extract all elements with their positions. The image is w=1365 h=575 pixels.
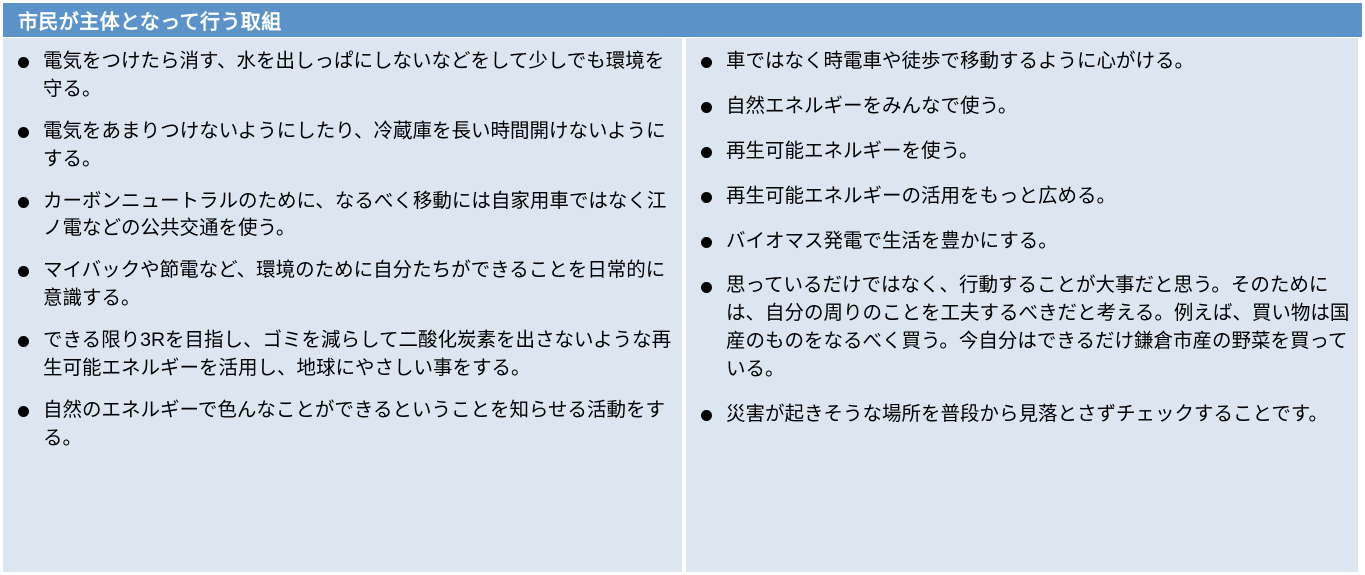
list-item-text: 電気をあまりつけないようにしたり、冷蔵庫を長い時間開けないようにする。 <box>43 118 674 174</box>
list-item: カーボンニュートラルのために、なるべく移動には自家用車ではなく江ノ電などの公共交… <box>13 188 674 244</box>
list-item: 自然のエネルギーで色んなことができるということを知らせる活動をする。 <box>13 397 674 453</box>
bullet-list-right: 車ではなく時電車や徒歩で移動するように心がける。 自然エネルギーをみんなで使う。… <box>696 48 1350 429</box>
list-item: できる限り3Rを目指し、ゴミを減らして二酸化炭素を出さないような再生可能エネルギ… <box>13 327 674 383</box>
bullet-dot-icon <box>18 336 29 347</box>
table-cell-right: 車ではなく時電車や徒歩で移動するように心がける。 自然エネルギーをみんなで使う。… <box>686 38 1358 572</box>
table-body-row: 電気をつけたら消す、水を出しっぱにしないなどをして少しでも環境を守る。 電気をあ… <box>3 38 1362 572</box>
list-item: 車ではなく時電車や徒歩で移動するように心がける。 <box>696 48 1350 76</box>
content-table: 市民が主体となって行う取組 電気をつけたら消す、水を出しっぱにしないなどをして少… <box>0 0 1365 575</box>
list-item-text: 災害が起きそうな場所を普段から見落とさずチェックすることです。 <box>726 401 1350 429</box>
bullet-dot-icon <box>18 127 29 138</box>
list-item: 再生可能エネルギーの活用をもっと広める。 <box>696 183 1350 211</box>
list-item: 電気をあまりつけないようにしたり、冷蔵庫を長い時間開けないようにする。 <box>13 118 674 174</box>
bullet-dot-icon <box>701 102 712 113</box>
list-item-text: バイオマス発電で生活を豊かにする。 <box>726 228 1350 256</box>
list-item-text: 思っているだけではなく、行動することが大事だと思う。そのためには、自分の周りのこ… <box>726 272 1350 384</box>
list-item: バイオマス発電で生活を豊かにする。 <box>696 228 1350 256</box>
list-item-text: 再生可能エネルギーを使う。 <box>726 138 1350 166</box>
bullet-dot-icon <box>701 192 712 203</box>
list-item: 自然エネルギーをみんなで使う。 <box>696 93 1350 121</box>
list-item: 電気をつけたら消す、水を出しっぱにしないなどをして少しでも環境を守る。 <box>13 48 674 104</box>
list-item-text: カーボンニュートラルのために、なるべく移動には自家用車ではなく江ノ電などの公共交… <box>43 188 674 244</box>
bullet-dot-icon <box>701 237 712 248</box>
list-item-text: 電気をつけたら消す、水を出しっぱにしないなどをして少しでも環境を守る。 <box>43 48 674 104</box>
list-item: 災害が起きそうな場所を普段から見落とさずチェックすることです。 <box>696 401 1350 429</box>
table-cell-left: 電気をつけたら消す、水を出しっぱにしないなどをして少しでも環境を守る。 電気をあ… <box>3 38 686 572</box>
bullet-dot-icon <box>701 147 712 158</box>
list-item-text: できる限り3Rを目指し、ゴミを減らして二酸化炭素を出さないような再生可能エネルギ… <box>43 327 674 383</box>
bullet-dot-icon <box>701 282 712 293</box>
table-header-band: 市民が主体となって行う取組 <box>3 3 1362 37</box>
bullet-dot-icon <box>18 406 29 417</box>
list-item-text: 車ではなく時電車や徒歩で移動するように心がける。 <box>726 48 1350 76</box>
bullet-dot-icon <box>18 266 29 277</box>
bullet-list-left: 電気をつけたら消す、水を出しっぱにしないなどをして少しでも環境を守る。 電気をあ… <box>13 48 674 453</box>
list-item-text: 再生可能エネルギーの活用をもっと広める。 <box>726 183 1350 211</box>
list-item-text: マイバックや節電など、環境のために自分たちができることを日常的に意識する。 <box>43 257 674 313</box>
bullet-dot-icon <box>701 410 712 421</box>
list-item: マイバックや節電など、環境のために自分たちができることを日常的に意識する。 <box>13 257 674 313</box>
list-item-text: 自然エネルギーをみんなで使う。 <box>726 93 1350 121</box>
bullet-dot-icon <box>18 57 29 68</box>
page-title: 市民が主体となって行う取組 <box>18 6 282 35</box>
bullet-dot-icon <box>701 57 712 68</box>
list-item: 再生可能エネルギーを使う。 <box>696 138 1350 166</box>
list-item-text: 自然のエネルギーで色んなことができるということを知らせる活動をする。 <box>43 397 674 453</box>
bullet-dot-icon <box>18 197 29 208</box>
list-item: 思っているだけではなく、行動することが大事だと思う。そのためには、自分の周りのこ… <box>696 272 1350 384</box>
